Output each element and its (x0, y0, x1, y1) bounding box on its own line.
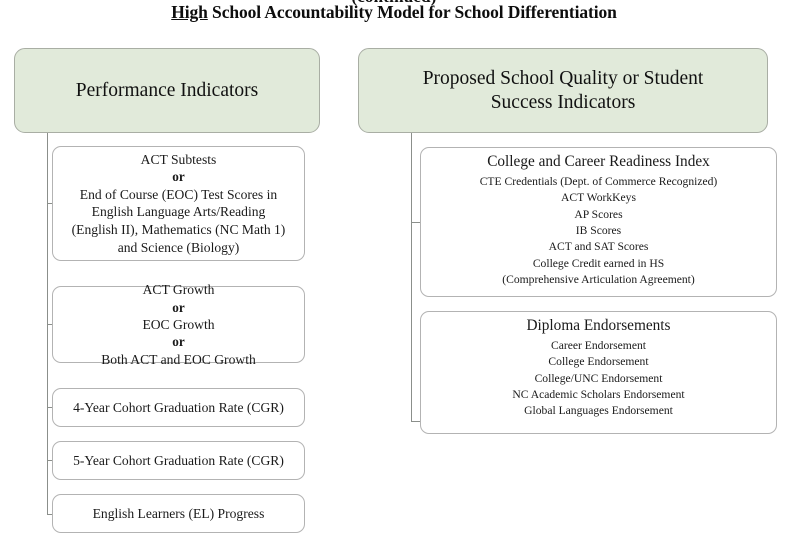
list-item: NC Academic Scholars Endorsement (512, 387, 684, 403)
indicator-line-or: or (172, 299, 184, 316)
list-item: IB Scores (576, 223, 621, 239)
header-label-line-2: Success Indicators (491, 91, 636, 115)
header-box-school-quality-student-success[interactable]: Proposed School Quality or Student Succe… (358, 48, 768, 133)
indicator-line: ACT Growth (143, 281, 215, 299)
indicator-line-or: or (172, 168, 184, 185)
indicator-box-act-subtests-eoc[interactable]: ACT Subtests or End of Course (EOC) Test… (52, 146, 305, 261)
list-title: Diploma Endorsements (526, 316, 670, 337)
indicator-box-cgr-4-year[interactable]: 4-Year Cohort Graduation Rate (CGR) (52, 388, 305, 427)
indicator-line: ACT Subtests (141, 151, 217, 169)
header-label-performance-indicators: Performance Indicators (76, 79, 258, 103)
list-item: CTE Credentials (Dept. of Commerce Recog… (480, 174, 718, 190)
indicator-box-cgr-5-year[interactable]: 5-Year Cohort Graduation Rate (CGR) (52, 441, 305, 480)
list-title: College and Career Readiness Index (487, 152, 710, 173)
indicator-line: EOC Growth (142, 316, 214, 334)
indicator-line: 4-Year Cohort Graduation Rate (CGR) (73, 399, 284, 417)
page-title-underlined-word: High (171, 2, 208, 22)
indicator-box-growth[interactable]: ACT Growth or EOC Growth or Both ACT and… (52, 286, 305, 363)
list-item: College Endorsement (548, 354, 648, 370)
indicator-box-el-progress[interactable]: English Learners (EL) Progress (52, 494, 305, 533)
header-box-performance-indicators[interactable]: Performance Indicators (14, 48, 320, 133)
list-item: College/UNC Endorsement (535, 371, 663, 387)
page-title: High School Accountability Model for Sch… (0, 2, 788, 23)
page-title-rest: School Accountability Model for School D… (208, 2, 617, 22)
list-item: (Comprehensive Articulation Agreement) (502, 272, 695, 288)
indicator-line: Both ACT and EOC Growth (101, 351, 256, 369)
indicator-line-or: or (172, 333, 184, 350)
indicator-line: (English II), Mathematics (NC Math 1) (72, 221, 286, 239)
list-item: Global Languages Endorsement (524, 403, 673, 419)
header-label-line-1: Proposed School Quality or Student (423, 67, 704, 91)
indicator-box-college-career-readiness-index[interactable]: College and Career Readiness Index CTE C… (420, 147, 777, 297)
list-item: ACT WorkKeys (561, 190, 636, 206)
right-column-trunk-line (411, 133, 412, 421)
indicator-line: 5-Year Cohort Graduation Rate (CGR) (73, 452, 284, 470)
list-item: Career Endorsement (551, 338, 646, 354)
indicator-line: End of Course (EOC) Test Scores in (80, 186, 277, 204)
list-item: ACT and SAT Scores (549, 239, 649, 255)
indicator-line: and Science (Biology) (118, 239, 240, 257)
list-item: College Credit earned in HS (533, 256, 664, 272)
indicator-line: English Language Arts/Reading (92, 203, 266, 221)
indicator-line: English Learners (EL) Progress (93, 505, 265, 523)
indicator-box-diploma-endorsements[interactable]: Diploma Endorsements Career Endorsement … (420, 311, 777, 434)
list-item: AP Scores (574, 207, 622, 223)
